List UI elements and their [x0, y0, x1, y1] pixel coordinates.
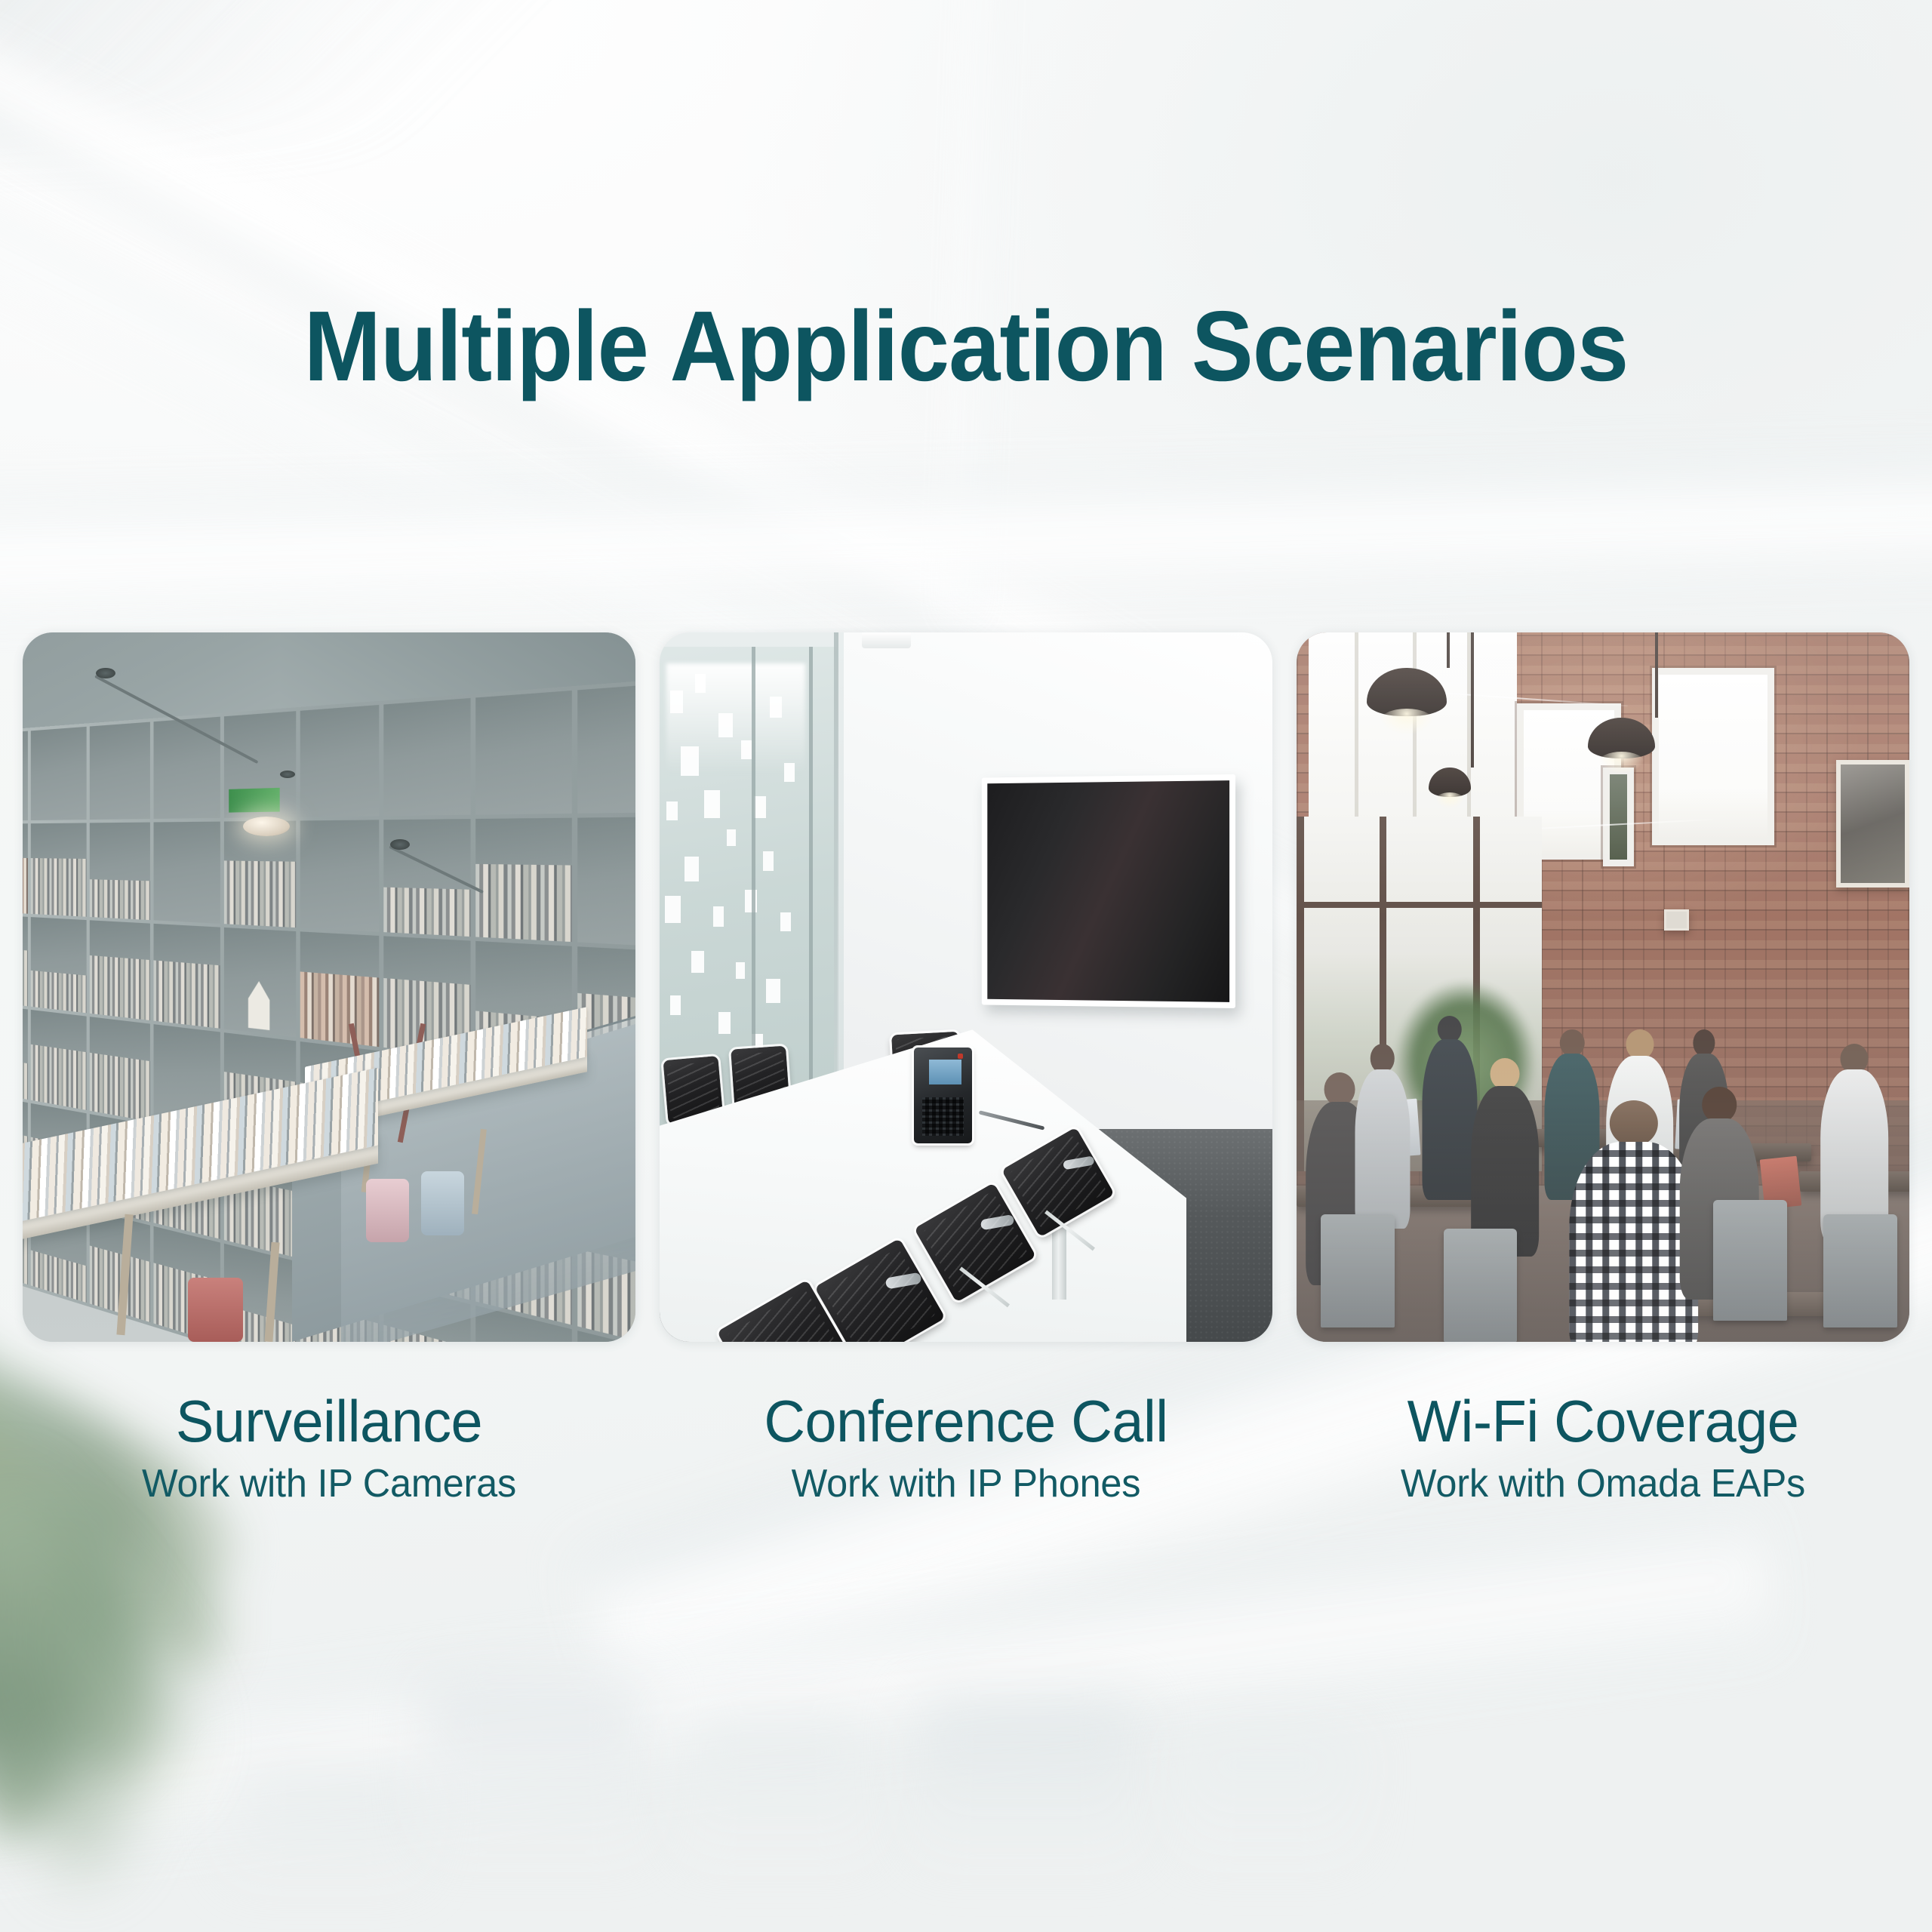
coworking-cafe-photo [1297, 632, 1909, 1342]
caption-surveillance: Surveillance Work with IP Cameras [23, 1389, 635, 1507]
caption-wifi-coverage: Wi-Fi Coverage Work with Omada EAPs [1297, 1389, 1909, 1507]
pendant-lamp-small [1450, 768, 1493, 824]
cafe-person-8 [1817, 1044, 1890, 1242]
scenario-captions: Surveillance Work with IP Cameras Confer… [23, 1389, 1909, 1507]
scenario-image-wifi-coverage [1297, 632, 1909, 1342]
library-photo [23, 632, 635, 1342]
wall-outlet-plate [1664, 909, 1688, 931]
pendant-lamp-left [1407, 668, 1487, 760]
scenario-image-gallery [23, 632, 1909, 1342]
storage-bin-pink [366, 1179, 409, 1243]
cafe-chair-3 [1713, 1200, 1786, 1321]
tv-screen [987, 780, 1229, 1002]
scenario-image-surveillance [23, 632, 635, 1342]
cafe-chair-1 [1321, 1214, 1394, 1327]
pendant-lamp-right [1621, 718, 1688, 795]
wall-picture-frame [1836, 760, 1909, 888]
cafe-person-4 [1468, 1058, 1541, 1257]
red-bin [188, 1278, 243, 1342]
caption-subheading: Work with Omada EAPs [1306, 1462, 1900, 1507]
wall-mounted-tv [982, 774, 1235, 1008]
page-title: Multiple Application Scenarios [68, 294, 1865, 399]
cafe-chair-2 [1444, 1229, 1517, 1342]
caption-conference-call: Conference Call Work with IP Phones [660, 1389, 1272, 1507]
phone-lcd-screen [929, 1060, 961, 1084]
conference-room-photo [660, 632, 1272, 1342]
caption-subheading: Work with IP Phones [669, 1462, 1263, 1507]
caption-heading: Wi-Fi Coverage [1306, 1389, 1900, 1454]
ip-desk-phone [914, 1048, 972, 1143]
cafe-chair-4 [1823, 1214, 1897, 1327]
scenario-image-conference-call [660, 632, 1272, 1342]
caption-heading: Conference Call [669, 1389, 1263, 1454]
cafe-person-2 [1352, 1044, 1413, 1228]
caption-subheading: Work with IP Cameras [32, 1462, 626, 1507]
storage-bin-blue [421, 1171, 464, 1235]
ceiling-light-panel [862, 632, 911, 648]
caption-heading: Surveillance [32, 1389, 626, 1454]
